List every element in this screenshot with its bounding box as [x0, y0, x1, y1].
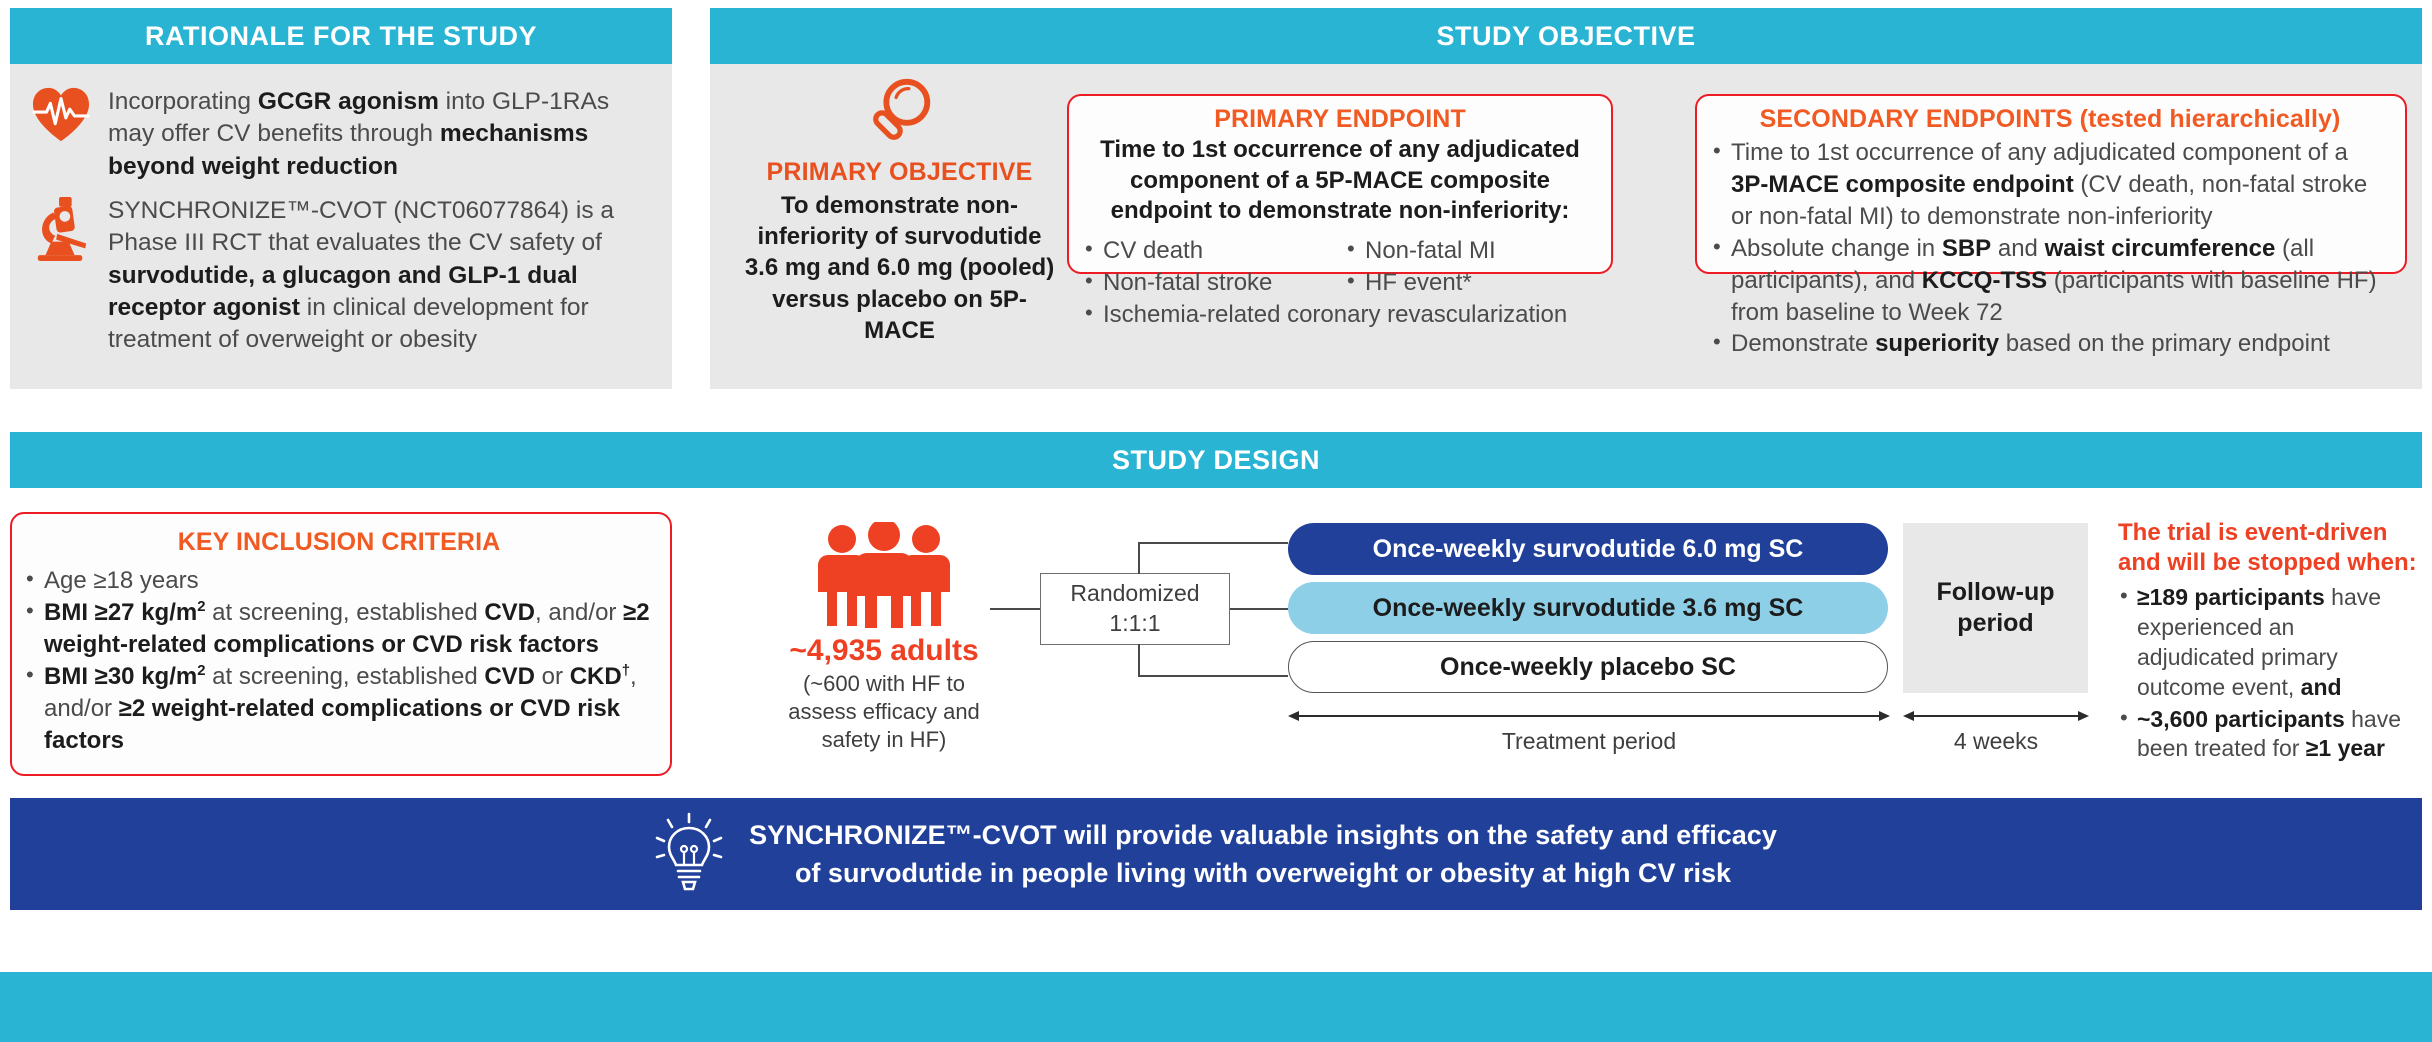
inclusion-criteria-bullets: Age ≥18 years BMI ≥27 kg/m2 at screening…: [24, 565, 654, 756]
treatment-period-arrow: [1288, 708, 1890, 724]
list-item: BMI ≥27 kg/m2 at screening, established …: [24, 597, 654, 661]
lightbulb-icon: [655, 812, 727, 897]
list-item: ~3,600 participants have been treated fo…: [2118, 705, 2418, 765]
design-header-label: STUDY DESIGN: [1112, 445, 1320, 476]
population-note: (~600 with HF to assess efficacy and saf…: [760, 670, 1008, 754]
followup-period-text: 4 weeks: [1903, 728, 2089, 755]
rationale-header-label: RATIONALE FOR THE STUDY: [145, 21, 537, 52]
list-item: Time to 1st occurrence of any adjudicate…: [1711, 137, 2389, 233]
microscope-icon: [22, 195, 100, 263]
list-item: Ischemia-related coronary revascularizat…: [1083, 299, 1597, 331]
connector-vertical-up: [1138, 542, 1140, 574]
connector-horizontal-top: [1138, 542, 1288, 544]
inclusion-criteria-title: KEY INCLUSION CRITERIA: [24, 528, 654, 557]
primary-endpoint-bullet-full: Ischemia-related coronary revascularizat…: [1083, 299, 1597, 331]
list-item: Absolute change in SBP and waist circumf…: [1711, 233, 2389, 329]
objective-header: STUDY OBJECTIVE: [710, 8, 2422, 64]
conclusion-line-2: of survodutide in people living with ove…: [749, 854, 1777, 892]
rationale-header: RATIONALE FOR THE STUDY: [10, 8, 672, 64]
followup-period-box: Follow-up period: [1903, 523, 2088, 693]
arm-survodutide-6mg: Once-weekly survodutide 6.0 mg SC: [1288, 523, 1888, 575]
randomization-line-2: 1:1:1: [1109, 609, 1160, 639]
rationale-item-2-text: SYNCHRONIZE™-CVOT (NCT06077864) is a Pha…: [108, 195, 653, 357]
list-item: ≥189 participants have experienced an ad…: [2118, 583, 2418, 703]
three-people-icon: [760, 522, 1008, 630]
list-item: Demonstrate superiority based on the pri…: [1711, 328, 2389, 360]
followup-period-arrow: [1903, 708, 2089, 724]
event-driven-group: The trial is event-driven and will be st…: [2118, 518, 2418, 764]
rationale-item-2: SYNCHRONIZE™-CVOT (NCT06077864) is a Pha…: [22, 195, 662, 357]
design-header: STUDY DESIGN: [10, 432, 2422, 488]
primary-objective-body: To demonstrate non-inferiority of survod…: [742, 190, 1057, 346]
arm-label: Once-weekly survodutide 3.6 mg SC: [1373, 594, 1804, 623]
treatment-period-text: Treatment period: [1288, 728, 1890, 755]
secondary-endpoints-title: SECONDARY ENDPOINTS (tested hierarchical…: [1711, 105, 2389, 134]
primary-endpoint-bullet-columns: CV death Non-fatal stroke Non-fatal MI H…: [1083, 235, 1597, 299]
secondary-endpoints-card: SECONDARY ENDPOINTS (tested hierarchical…: [1695, 94, 2407, 274]
list-item: Non-fatal stroke: [1083, 267, 1345, 299]
list-item: HF event*: [1345, 267, 1585, 299]
inclusion-criteria-card: KEY INCLUSION CRITERIA Age ≥18 years BMI…: [10, 512, 672, 776]
rationale-item-1-text: Incorporating GCGR agonism into GLP-1RAs…: [108, 86, 653, 183]
event-driven-bullets: ≥189 participants have experienced an ad…: [2118, 583, 2418, 764]
bottom-cyan-bar: [0, 972, 2432, 1042]
conclusion-line-1: SYNCHRONIZE™-CVOT will provide valuable …: [749, 816, 1777, 854]
primary-endpoint-bullets-left: CV death Non-fatal stroke: [1083, 235, 1345, 299]
list-item: Non-fatal MI: [1345, 235, 1585, 267]
magnifier-icon: [742, 76, 1057, 154]
population-group: ~4,935 adults (~600 with HF to assess ef…: [760, 522, 1008, 754]
secondary-endpoints-bullets: Time to 1st occurrence of any adjudicate…: [1711, 137, 2389, 360]
conclusion-text: SYNCHRONIZE™-CVOT will provide valuable …: [749, 816, 1777, 893]
arm-placebo: Once-weekly placebo SC: [1288, 641, 1888, 693]
arm-label: Once-weekly survodutide 6.0 mg SC: [1373, 535, 1804, 564]
connector-horizontal-bottom: [1138, 675, 1288, 677]
followup-period-label: Follow-up period: [1915, 577, 2076, 640]
conclusion-banner: SYNCHRONIZE™-CVOT will provide valuable …: [10, 798, 2422, 910]
primary-objective-title: PRIMARY OBJECTIVE: [742, 158, 1057, 187]
primary-endpoint-subtitle: Time to 1st occurrence of any adjudicate…: [1083, 135, 1597, 227]
heart-pulse-icon: [22, 86, 100, 144]
primary-objective: PRIMARY OBJECTIVE To demonstrate non-inf…: [742, 76, 1057, 346]
randomization-line-1: Randomized: [1070, 579, 1199, 609]
list-item: CV death: [1083, 235, 1345, 267]
primary-endpoint-bullets-right: Non-fatal MI HF event*: [1345, 235, 1585, 299]
population-count: ~4,935 adults: [760, 634, 1008, 668]
infographic-page: RATIONALE FOR THE STUDY Incorporating GC…: [0, 0, 2432, 1042]
list-item: BMI ≥30 kg/m2 at screening, established …: [24, 661, 654, 757]
arm-survodutide-36mg: Once-weekly survodutide 3.6 mg SC: [1288, 582, 1888, 634]
connector-horizontal-mid: [1230, 608, 1288, 610]
objective-header-label: STUDY OBJECTIVE: [1436, 21, 1695, 52]
primary-endpoint-title: PRIMARY ENDPOINT: [1083, 105, 1597, 134]
arm-label: Once-weekly placebo SC: [1440, 653, 1736, 682]
list-item: Age ≥18 years: [24, 565, 654, 597]
rationale-item-1: Incorporating GCGR agonism into GLP-1RAs…: [22, 86, 662, 183]
randomization-box: Randomized 1:1:1: [1040, 573, 1230, 645]
event-driven-title: The trial is event-driven and will be st…: [2118, 518, 2418, 579]
connector-vertical-down: [1138, 644, 1140, 676]
primary-endpoint-card: PRIMARY ENDPOINT Time to 1st occurrence …: [1067, 94, 1613, 274]
